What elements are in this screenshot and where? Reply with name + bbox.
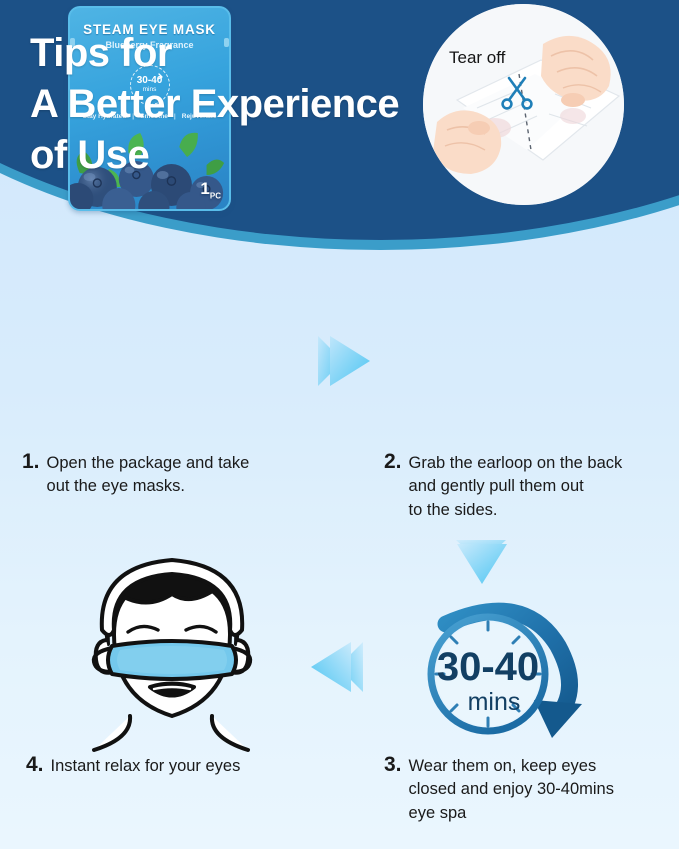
- arrow-down-step2-to-step3: [450, 532, 514, 599]
- step-1-text: Open the package and take out the eye ma…: [47, 450, 250, 499]
- step-3-line-3: eye spa: [409, 804, 467, 822]
- arrow-right-icon: [308, 330, 378, 392]
- step-3-caption: 3. Wear them on, keep eyes closed and en…: [384, 753, 674, 825]
- step-3-line-1: Wear them on, keep eyes: [409, 757, 597, 775]
- package-count-unit: PC: [210, 191, 221, 200]
- tear-off-label: Tear off: [449, 48, 505, 68]
- tear-off-illustration: [423, 4, 626, 207]
- page-title-line-3: of Use: [30, 130, 399, 181]
- step-3-line-2: closed and enjoy 30-40mins: [409, 780, 614, 798]
- package-count: 1PC: [200, 179, 221, 200]
- arrow-down-icon: [450, 532, 514, 594]
- timer-unit: mins: [468, 688, 521, 716]
- step-1-caption: 1. Open the package and take out the eye…: [22, 450, 322, 499]
- step-1-number: 1.: [22, 450, 40, 475]
- tear-off-photo: Tear off: [421, 2, 626, 207]
- step-4-line-1: Instant relax for your eyes: [51, 753, 241, 778]
- face-graphic: [62, 548, 287, 753]
- page-title-line-2: A Better Experience: [30, 79, 399, 130]
- step-2-line-1: Grab the earloop on the back: [409, 454, 623, 472]
- eye-mask-shape: [94, 641, 250, 679]
- timer-graphic: 30-40 mins: [406, 600, 596, 750]
- step-3-number: 3.: [384, 753, 402, 778]
- page-title: Tips for A Better Experience of Use: [30, 28, 399, 182]
- step-3-text: Wear them on, keep eyes closed and enjoy…: [409, 753, 614, 825]
- step-2-number: 2.: [384, 450, 402, 475]
- step-4-caption: 4. Instant relax for your eyes: [26, 753, 326, 778]
- step-4-number: 4.: [26, 753, 44, 778]
- step-2-line-3: to the sides.: [409, 501, 498, 519]
- timer-illustration: 30-40 mins: [406, 600, 596, 750]
- step-1-line-1: Open the package and take: [47, 454, 250, 472]
- step-1-line-2: out the eye masks.: [47, 477, 186, 495]
- page-title-line-1: Tips for: [30, 28, 399, 79]
- arrow-left-icon: [305, 636, 375, 698]
- step-2-caption: 2. Grab the earloop on the back and gent…: [384, 450, 674, 522]
- face-with-mask-illustration: [62, 548, 287, 753]
- step-2-text: Grab the earloop on the back and gently …: [409, 450, 623, 522]
- step-2-line-2: and gently pull them out: [409, 477, 584, 495]
- arrow-right-step1-to-step2: [308, 330, 378, 397]
- timer-value: 30-40: [437, 645, 539, 689]
- arrow-left-step3-to-step4: [305, 636, 375, 703]
